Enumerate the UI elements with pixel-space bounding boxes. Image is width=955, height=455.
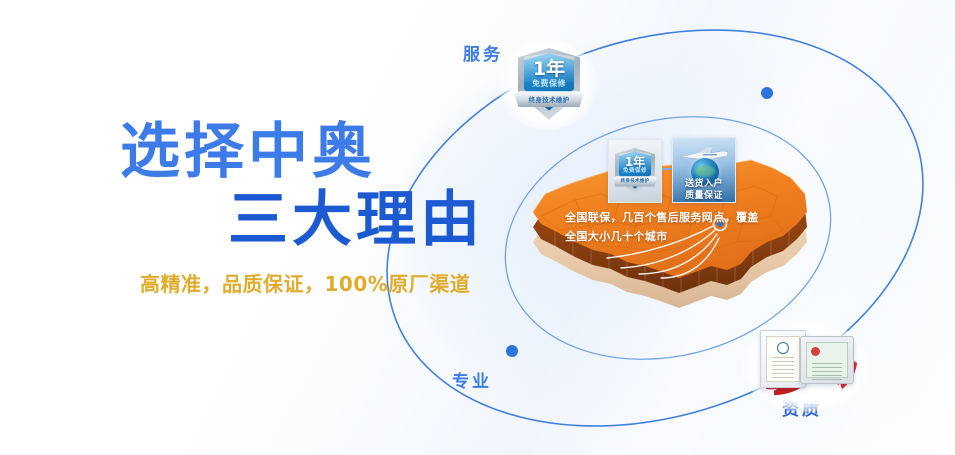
orbit-label-service: 服务 bbox=[463, 40, 503, 65]
title-line-2: 三大理由 bbox=[228, 189, 540, 252]
map-caption-line-1: 全国联保，几百个售后服务网点，覆盖 bbox=[565, 208, 795, 227]
map-caption-line-2: 全国大小几十个城市 bbox=[565, 227, 795, 246]
shield-icon-warranty: 1年 免费保修 终身技术维护 bbox=[518, 48, 580, 120]
card-warranty-shield: 1年 免费保修 终身技术维护 bbox=[608, 139, 662, 203]
orbit-dot-icon-southwest bbox=[506, 345, 518, 357]
promo-banner: 选择中奥 三大理由 高精准，品质保证，100%原厂渠道 服务 专业 资质 1年 … bbox=[0, 0, 955, 455]
delivery-caption-line-2: 质量保证 bbox=[676, 188, 732, 201]
shield-mini-ribbon: 终身技术维护 bbox=[613, 176, 658, 186]
certificate-right-text-lines bbox=[812, 363, 842, 383]
shield-icon-mini: 1年 免费保修 终身技术维护 bbox=[615, 148, 655, 195]
shield-sub-text: 免费保修 bbox=[518, 80, 580, 88]
shield-mini-sub-text: 免费保修 bbox=[615, 169, 655, 175]
shield-ribbon-text: 终身技术维护 bbox=[529, 94, 570, 104]
title-line-1: 选择中奥 bbox=[120, 122, 540, 183]
certificate-left-text-lines bbox=[772, 357, 794, 381]
shield-year-text: 1年 bbox=[518, 60, 580, 79]
orbit-label-professional: 专业 bbox=[452, 367, 492, 392]
subtitle: 高精准，品质保证，100%原厂渠道 bbox=[140, 268, 540, 297]
certificate-seal bbox=[811, 347, 820, 356]
map-caption: 全国联保，几百个售后服务网点，覆盖 全国大小几十个城市 bbox=[565, 208, 795, 247]
orbit-dot-icon-northeast bbox=[761, 87, 773, 99]
certificate-right-page bbox=[806, 342, 848, 378]
shield-ribbon: 终身技术维护 bbox=[514, 91, 583, 107]
certificate-icon-right bbox=[800, 336, 854, 384]
headline-block: 选择中奥 三大理由 高精准，品质保证，100%原厂渠道 bbox=[120, 122, 540, 297]
card-home-delivery: 送货入户 质量保证 bbox=[672, 137, 736, 203]
certificate-emblem bbox=[777, 342, 789, 354]
certificate-left-page bbox=[766, 336, 800, 382]
shield-mini-year-text: 1年 bbox=[615, 156, 655, 168]
shield-mini-ribbon-text: 终身技术维护 bbox=[621, 178, 650, 184]
